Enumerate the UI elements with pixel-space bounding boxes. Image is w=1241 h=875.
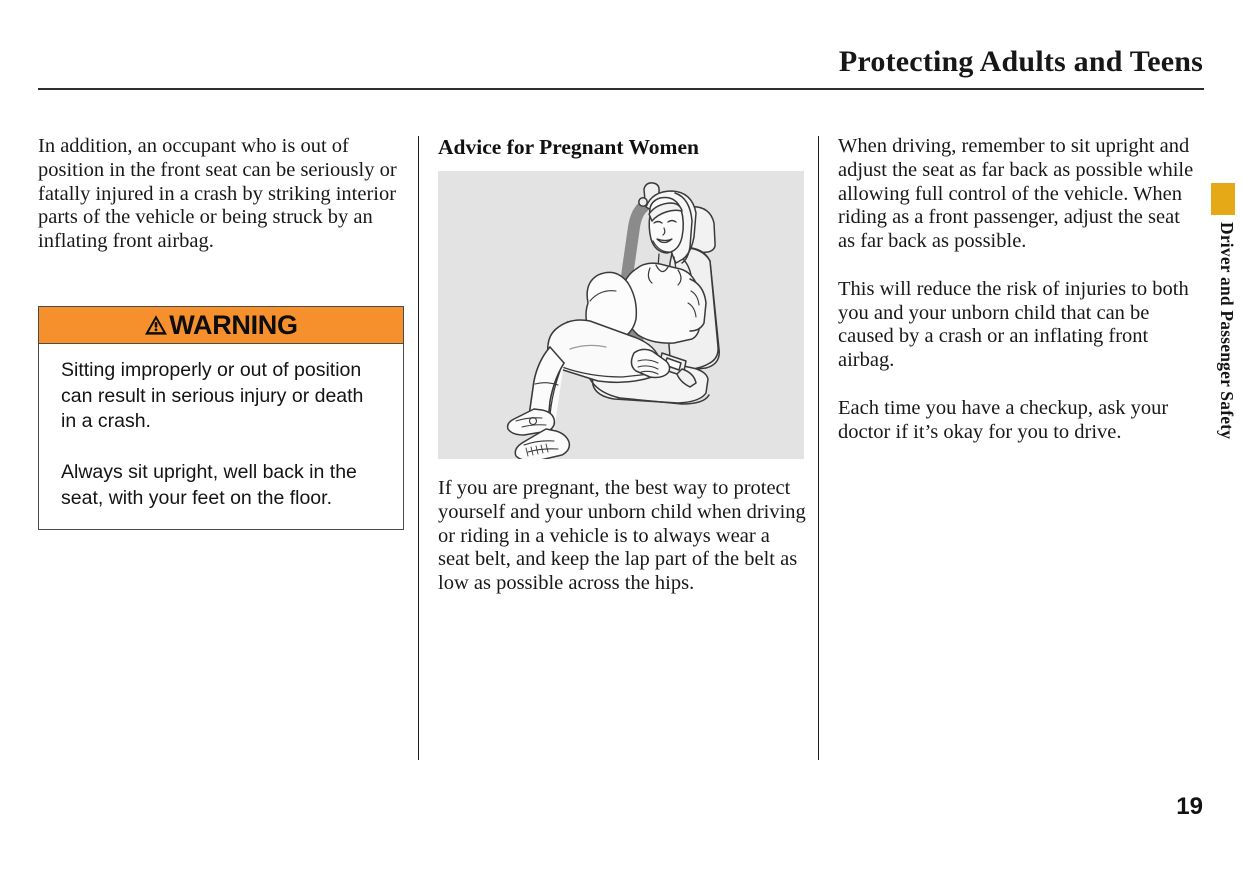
warning-label: WARNING [169,312,297,339]
warning-triangle-icon [144,314,168,336]
manual-page: Protecting Adults and Teens In addition,… [0,0,1241,875]
right-paragraph-3: Each time you have a checkup, ask your d… [838,397,1196,445]
pregnant-woman-seatbelt-illustration [438,171,804,459]
right-paragraph-1: When driving, remember to sit upright an… [838,135,1196,254]
left-paragraph-1: In addition, an occupant who is out of p… [38,135,406,254]
column-divider-left [418,136,419,760]
side-tab-marker [1211,183,1235,215]
section-heading-advice-for-pregnant-women: Advice for Pregnant Women [438,135,806,159]
page-header-title: Protecting Adults and Teens [839,45,1203,79]
right-column: When driving, remember to sit upright an… [838,135,1196,444]
warning-paragraph-1: Sitting improperly or out of position ca… [61,358,381,435]
column-divider-right [818,136,819,760]
middle-column: Advice for Pregnant Women [438,135,806,596]
warning-box-header: WARNING [39,307,403,344]
left-column: In addition, an occupant who is out of p… [38,135,406,254]
warning-paragraph-2: Always sit upright, well back in the sea… [61,460,381,511]
header-divider-rule [38,88,1204,90]
warning-box-body: Sitting improperly or out of position ca… [39,344,403,529]
warning-box: WARNING Sitting improperly or out of pos… [38,306,404,530]
side-tab-label: Driver and Passenger Safety [1211,222,1237,492]
right-paragraph-2: This will reduce the risk of injuries to… [838,278,1196,373]
page-number: 19 [1176,793,1203,821]
middle-paragraph-1: If you are pregnant, the best way to pro… [438,477,806,596]
